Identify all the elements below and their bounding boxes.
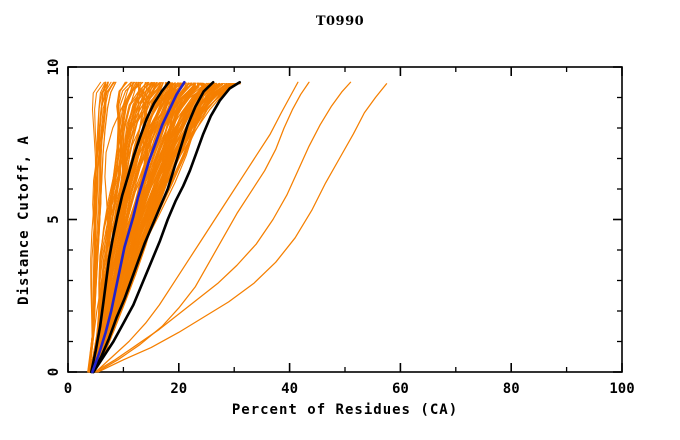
plot-canvas: 0204060801000510 Percent of Residues (CA…: [0, 0, 680, 440]
x-tick-label: 0: [64, 381, 72, 397]
y-tick-label: 0: [46, 368, 62, 376]
y-axis-title: Distance Cutoff, A: [16, 135, 32, 305]
y-tick-label: 5: [46, 215, 62, 223]
x-tick-label: 80: [503, 381, 520, 397]
y-tick-label: 10: [46, 59, 62, 76]
chart-page: T0990 0204060801000510 Percent of Residu…: [0, 0, 680, 440]
x-tick-label: 100: [609, 381, 634, 397]
x-tick-label: 40: [281, 381, 298, 397]
x-tick-label: 60: [392, 381, 409, 397]
x-axis-title: Percent of Residues (CA): [232, 402, 458, 418]
x-tick-label: 20: [170, 381, 187, 397]
